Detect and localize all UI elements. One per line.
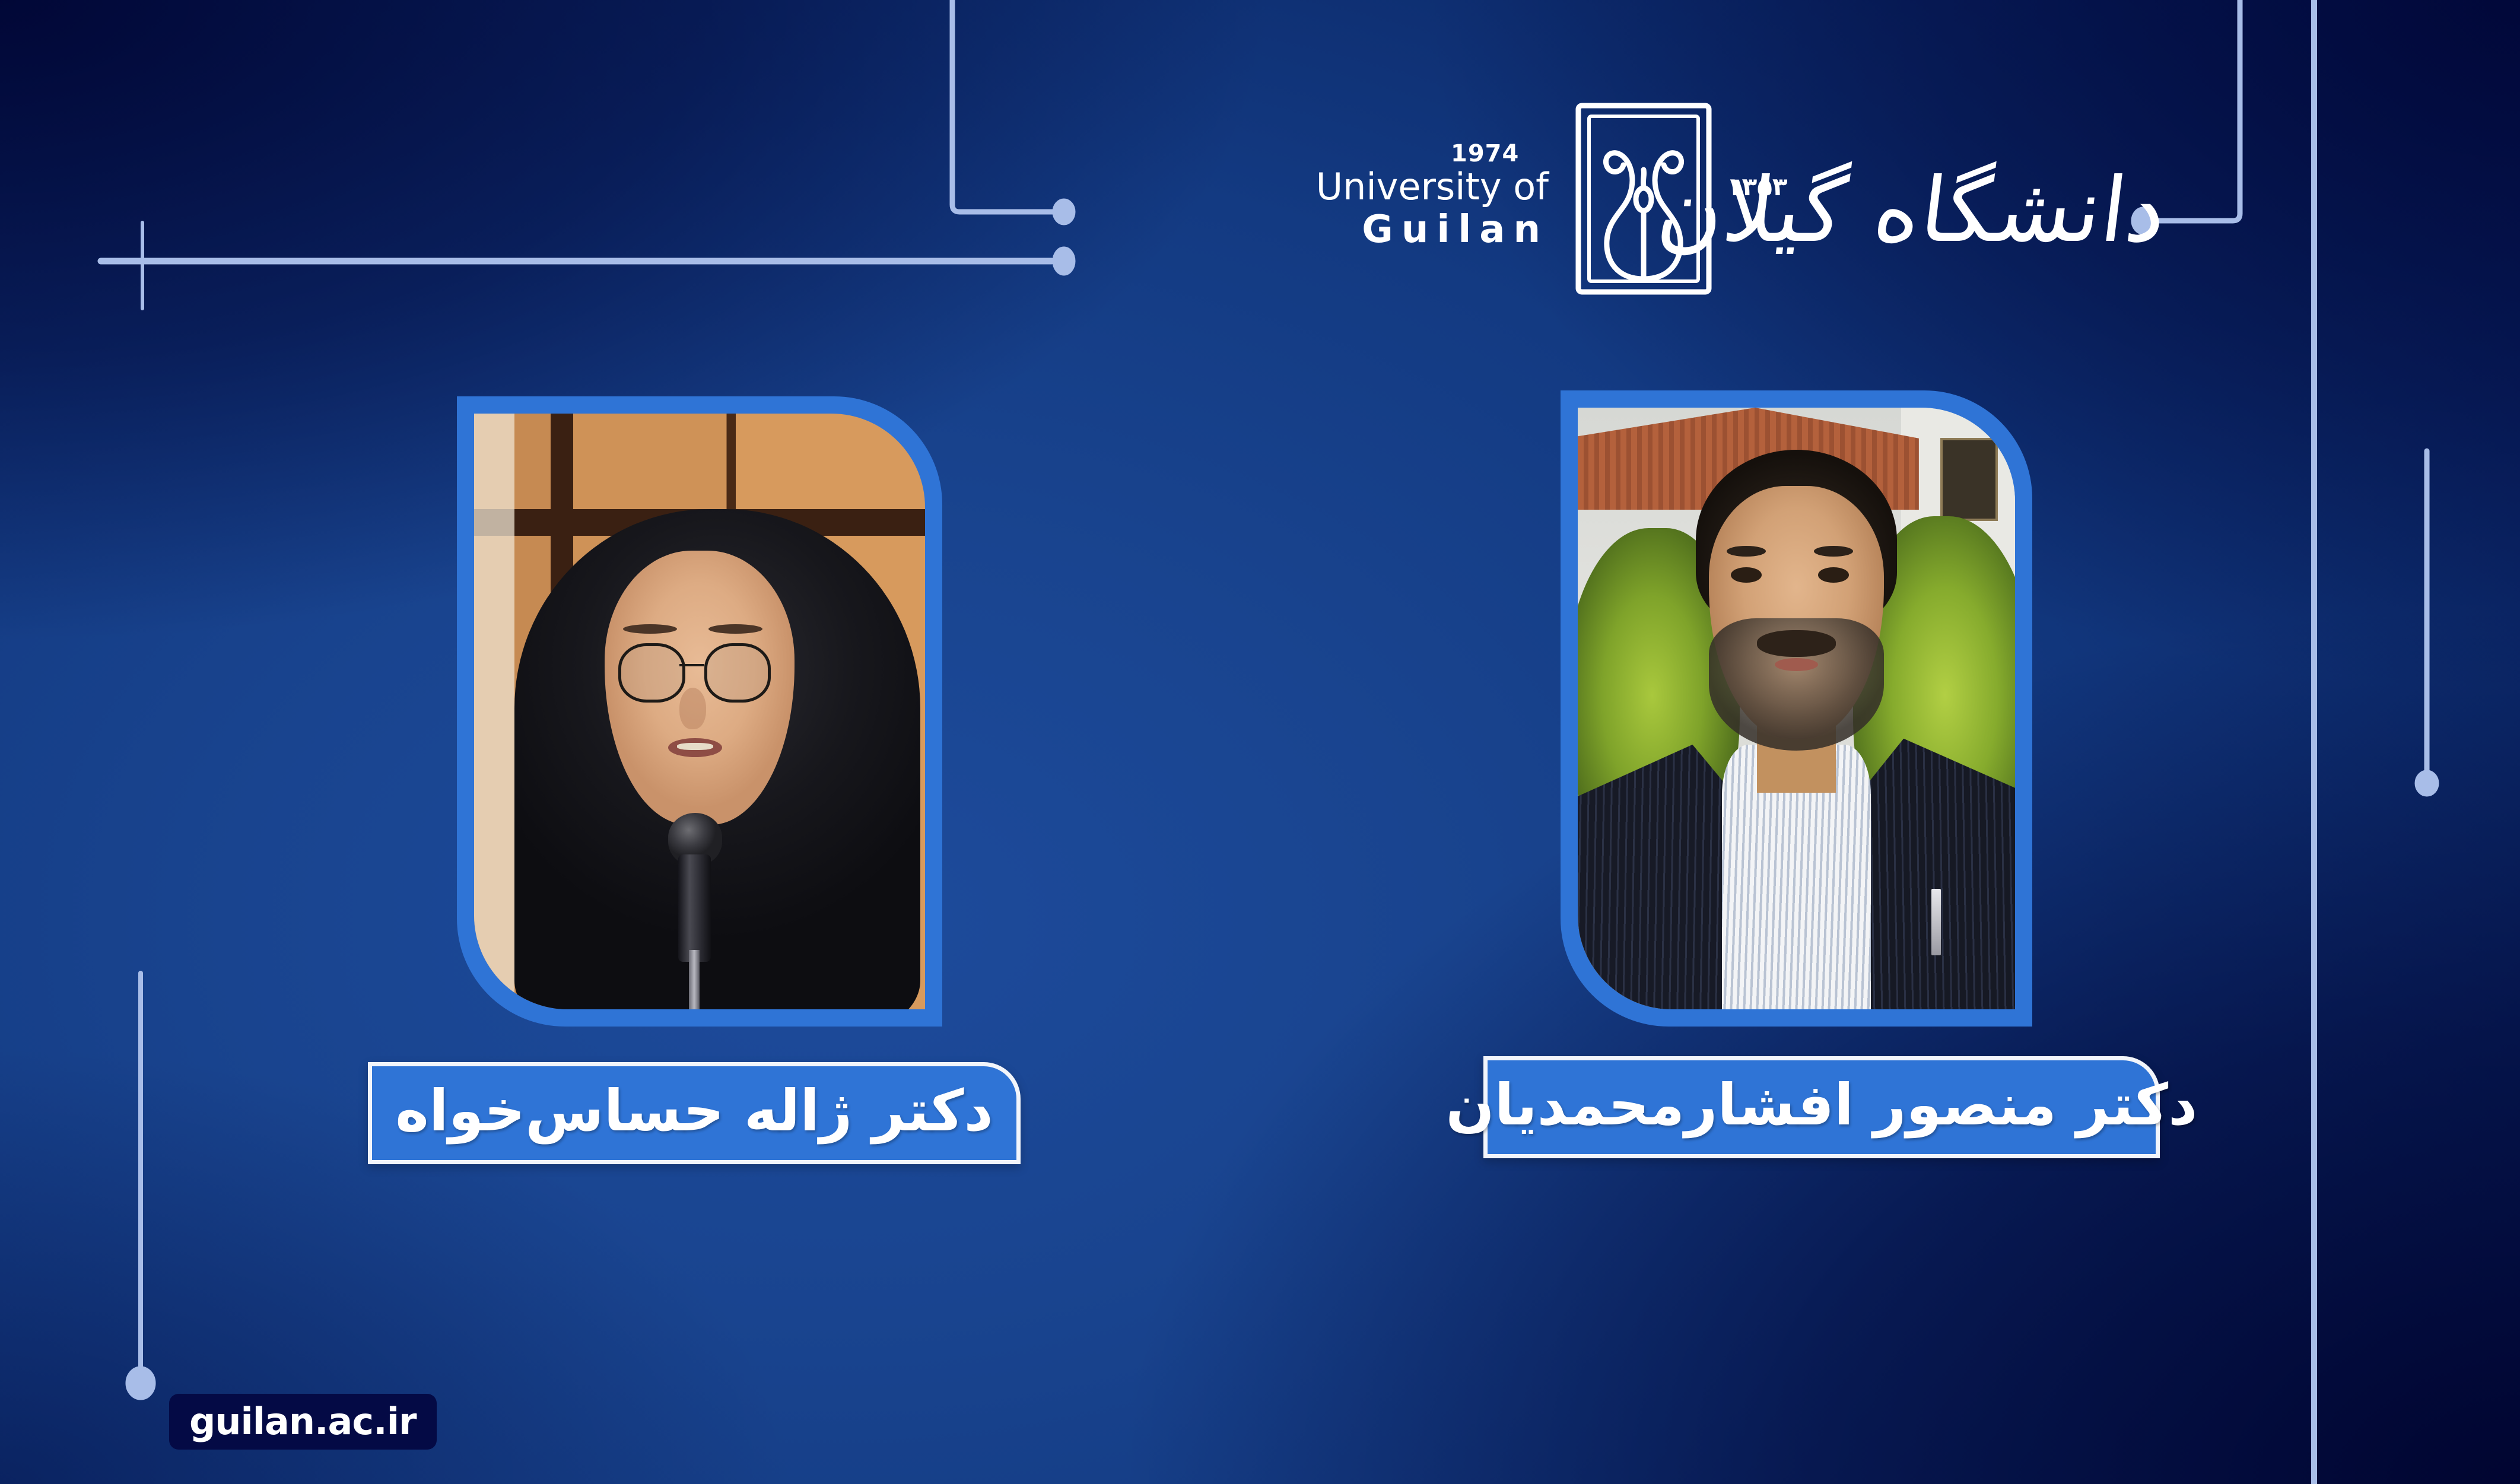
website-url-badge[interactable]: guilan.ac.ir <box>169 1394 437 1450</box>
speaker-photo-right <box>1578 408 2015 1009</box>
logo-name-english-line1: University of <box>1252 167 1549 206</box>
photo-left-microphone-stem <box>689 950 700 1009</box>
logo-name-english-line2: Guilan <box>1252 206 1549 253</box>
logo-name-persian: دانشگاه گیلان <box>1739 113 2178 309</box>
speaker-name-plate-right: دکتر منصور افشارمحمدیان <box>1483 1056 2160 1158</box>
university-logo: University of Guilan 1974 ۱۳۵۳ دانشگاه گ… <box>1216 89 2178 344</box>
photo-left-nose <box>679 688 707 729</box>
banner-root: University of Guilan 1974 ۱۳۵۳ دانشگاه گ… <box>0 0 2520 1484</box>
logo-name-english: University of Guilan <box>1252 167 1549 253</box>
speaker-name-right: دکتر منصور افشارمحمدیان <box>1446 1076 2198 1138</box>
website-url-text: guilan.ac.ir <box>189 1403 417 1440</box>
photo-left-eyeglass-left <box>618 643 685 703</box>
photo-right-eye-right <box>1818 567 1849 583</box>
logo-year-gregorian: 1974 <box>1451 140 1519 167</box>
photo-left-wall-panel <box>474 414 514 1009</box>
photo-left-eyeglass-right <box>704 643 771 703</box>
speaker-photo-frame-right <box>1561 390 2032 1027</box>
photo-left-microphone-body <box>678 854 711 962</box>
photo-right-lip <box>1775 658 1819 671</box>
speaker-photo-left <box>474 414 925 1009</box>
speaker-photo-frame-left <box>457 396 942 1027</box>
photo-right-moustache <box>1757 630 1836 657</box>
photo-right-pocket-pen <box>1931 889 1941 955</box>
photo-left-teeth <box>677 743 713 750</box>
speaker-name-plate-left: دکتر ژاله حساس‌خواه <box>368 1062 1021 1164</box>
speaker-name-left: دکتر ژاله حساس‌خواه <box>395 1082 993 1144</box>
photo-right-eye-left <box>1731 567 1762 583</box>
photo-left-eyeglass-bridge <box>679 664 704 666</box>
photo-right-window <box>1940 438 1997 521</box>
